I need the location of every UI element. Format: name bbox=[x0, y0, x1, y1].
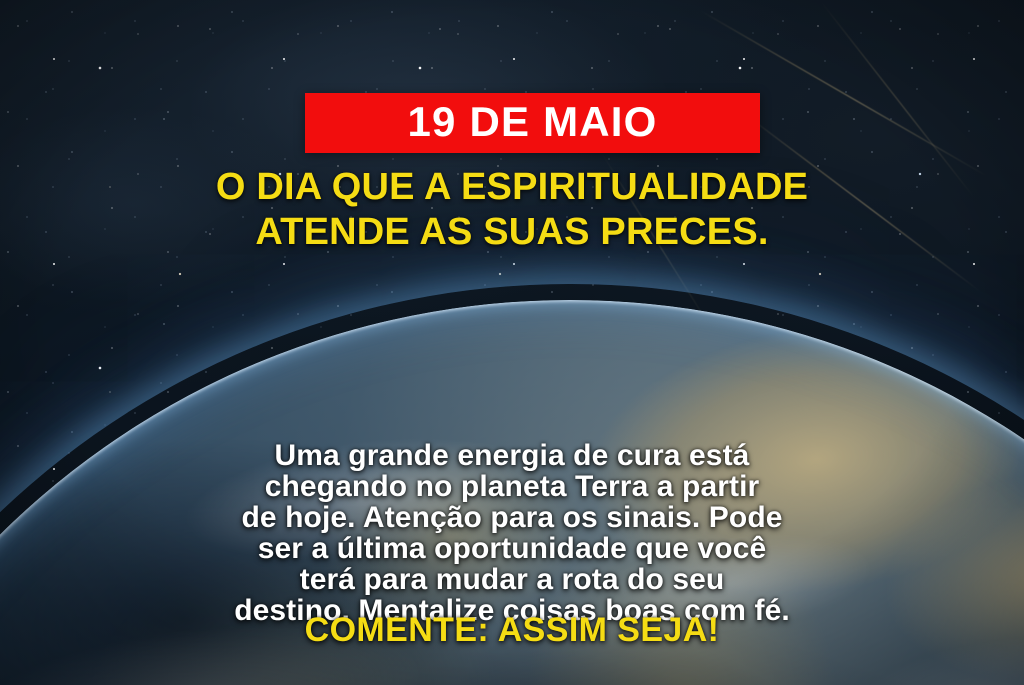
headline-line-2: ATENDE AS SUAS PRECES. bbox=[0, 210, 1024, 255]
call-to-action-text: COMENTE: ASSIM SEJA! bbox=[0, 612, 1024, 649]
body-line-5: terá para mudar a rota do seu bbox=[0, 564, 1024, 595]
body-line-3: de hoje. Atenção para os sinais. Pode bbox=[0, 502, 1024, 533]
body-copy: Uma grande energia de cura está chegando… bbox=[0, 440, 1024, 626]
date-banner-text: 19 DE MAIO bbox=[407, 101, 657, 143]
date-banner: 19 DE MAIO bbox=[305, 93, 760, 153]
body-line-1: Uma grande energia de cura está bbox=[0, 440, 1024, 471]
headline: O DIA QUE A ESPIRITUALIDADE ATENDE AS SU… bbox=[0, 165, 1024, 255]
poster-image: 19 DE MAIO O DIA QUE A ESPIRITUALIDADE A… bbox=[0, 0, 1024, 685]
poster-content: 19 DE MAIO O DIA QUE A ESPIRITUALIDADE A… bbox=[0, 0, 1024, 685]
headline-line-1: O DIA QUE A ESPIRITUALIDADE bbox=[0, 165, 1024, 210]
body-line-2: chegando no planeta Terra a partir bbox=[0, 471, 1024, 502]
body-line-4: ser a última oportunidade que você bbox=[0, 533, 1024, 564]
